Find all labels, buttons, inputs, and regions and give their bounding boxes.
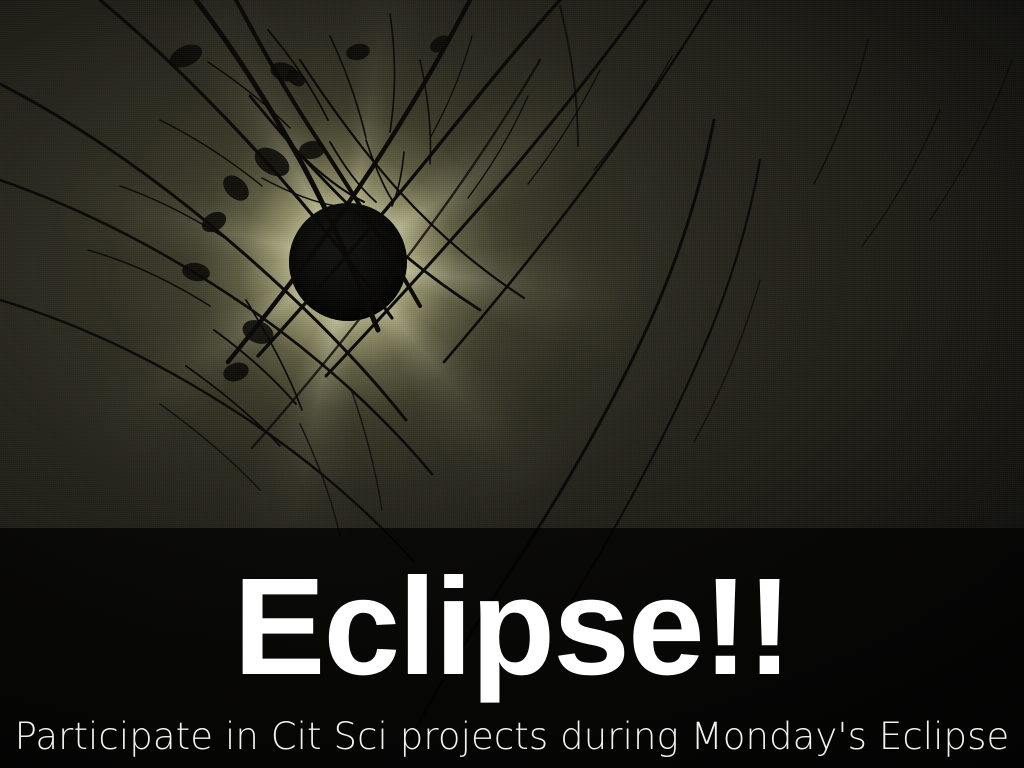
moon-disc-icon [289,203,407,321]
page-subtitle: Participate in Cit Sci projects during M… [15,718,1010,755]
slide-canvas: Eclipse!! Participate in Cit Sci project… [0,0,1024,768]
corona-ring-icon [272,186,424,338]
page-title: Eclipse!! [233,558,790,696]
caption-block: Eclipse!! Participate in Cit Sci project… [0,528,1024,768]
